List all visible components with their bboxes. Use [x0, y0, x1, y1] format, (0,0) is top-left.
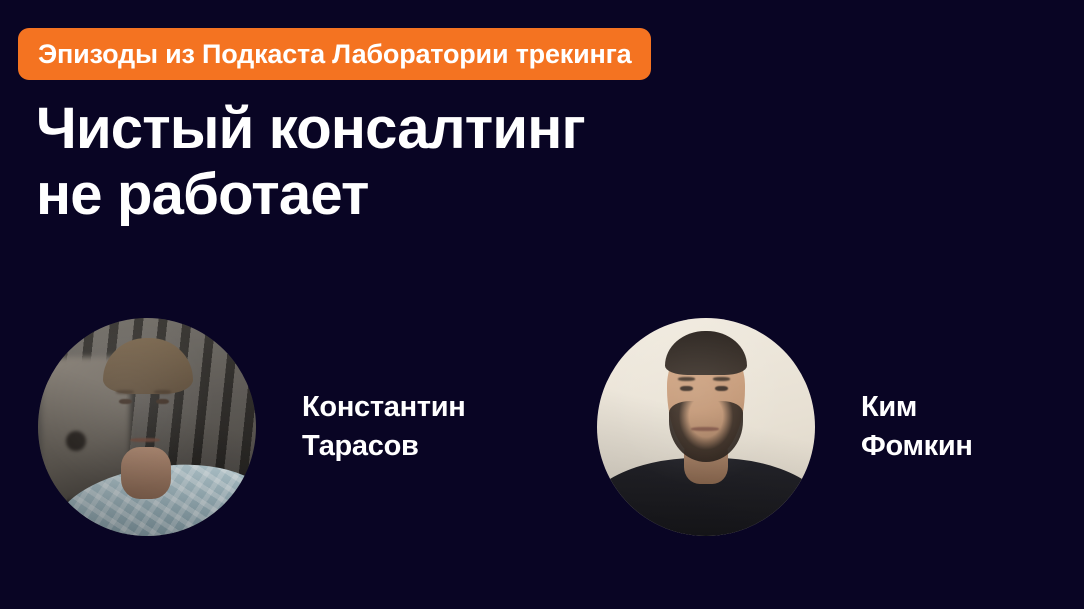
speaker-1-last-name: Тарасов [302, 427, 465, 466]
speaker-1-name: Константин Тарасов [302, 388, 465, 465]
speaker-1-first-name: Константин [302, 388, 465, 427]
speaker-1: Константин Тарасов [38, 318, 465, 536]
speaker-1-avatar [38, 318, 256, 536]
speaker-2: Ким Фомкин [597, 318, 973, 536]
episode-title: Чистый консалтинг не работает [36, 96, 816, 227]
speaker-2-name: Ким Фомкин [861, 388, 973, 465]
speaker-2-first-name: Ким [861, 388, 973, 427]
episode-title-line-1: Чистый консалтинг [36, 96, 816, 162]
avatar-shading [38, 318, 256, 536]
speakers-row: Константин Тарасов Ким Фомкин [0, 318, 1084, 538]
podcast-episode-slide: Эпизоды из Подкаста Лаборатории трекинга… [0, 0, 1084, 609]
speaker-2-avatar [597, 318, 815, 536]
avatar-shading [597, 318, 815, 536]
episode-category-label: Эпизоды из Подкаста Лаборатории трекинга [38, 41, 631, 68]
episode-category-badge: Эпизоды из Подкаста Лаборатории трекинга [18, 28, 651, 80]
episode-title-line-2: не работает [36, 162, 816, 228]
speaker-2-last-name: Фомкин [861, 427, 973, 466]
